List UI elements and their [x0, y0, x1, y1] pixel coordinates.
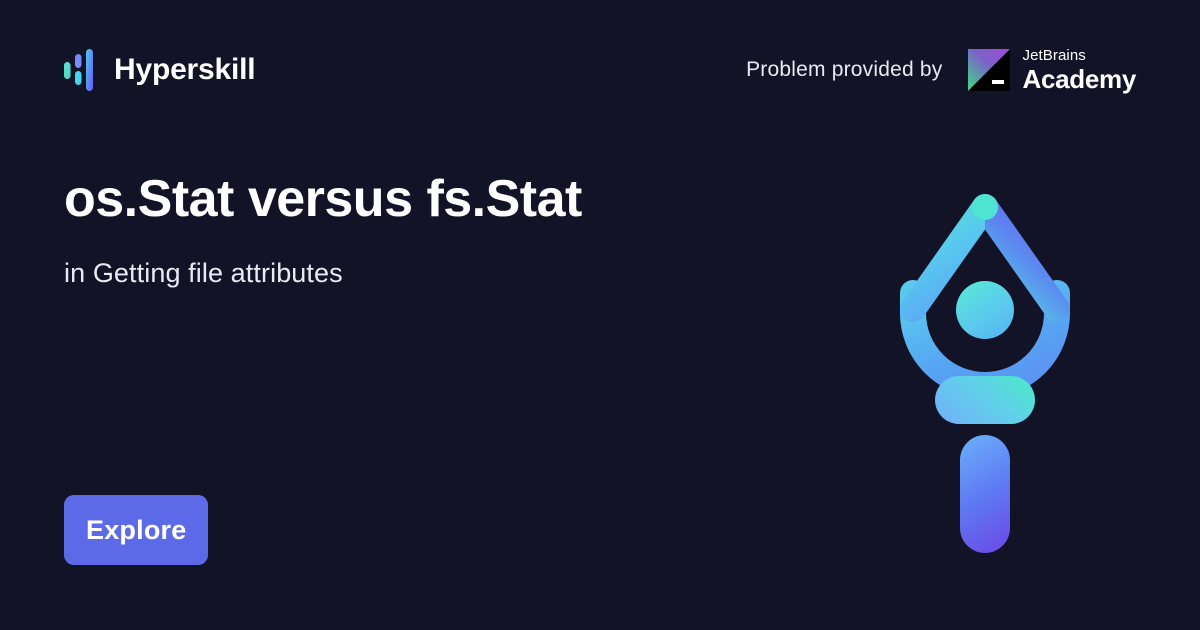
page-header: Hyperskill Problem provided by — [0, 0, 1200, 140]
hyperskill-brand[interactable]: Hyperskill — [64, 49, 255, 91]
hyperskill-brand-name: Hyperskill — [114, 55, 255, 85]
page-title: os.Stat versus fs.Stat — [64, 170, 864, 228]
jetbrains-academy-logo[interactable]: JetBrains Academy — [968, 48, 1136, 92]
jetbrains-name: JetBrains — [1022, 48, 1136, 63]
academy-name: Academy — [1022, 66, 1136, 92]
main-content: os.Stat versus fs.Stat in Getting file a… — [64, 170, 864, 289]
jetbrains-square-logo-icon — [968, 49, 1010, 91]
provider-lockup: Problem provided by J — [746, 48, 1136, 92]
provider-label: Problem provided by — [746, 58, 942, 82]
explore-button[interactable]: Explore — [64, 495, 208, 565]
hyperskill-torch-emblem-icon — [900, 185, 1070, 555]
jetbrains-academy-wordmark: JetBrains Academy — [1022, 48, 1136, 92]
hyperskill-bars-logo-icon — [64, 49, 96, 91]
page-subtitle: in Getting file attributes — [64, 258, 864, 289]
